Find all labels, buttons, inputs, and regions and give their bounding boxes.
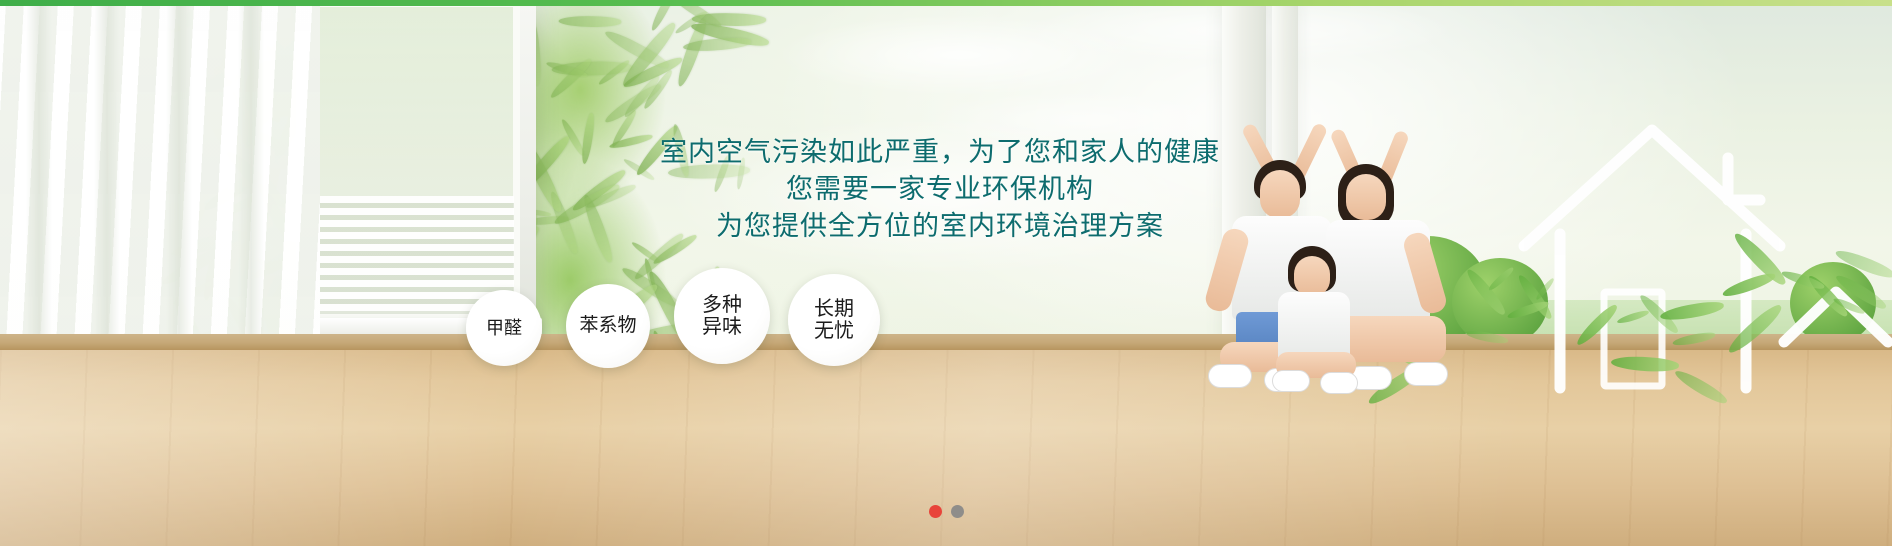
carousel-dots[interactable] bbox=[0, 504, 1892, 518]
badge-multiple-odors[interactable]: 多种 异味 bbox=[674, 268, 770, 364]
badge-long-term-worry-free-line-2: 无忧 bbox=[814, 320, 854, 342]
feature-badge-group: 甲醛 苯系物 多种 异味 长期 无忧 bbox=[462, 268, 882, 368]
badge-benzene-series[interactable]: 苯系物 bbox=[566, 284, 650, 368]
badge-formaldehyde-line-1: 甲醛 bbox=[486, 317, 522, 339]
badge-multiple-odors-line-2: 异味 bbox=[702, 316, 742, 338]
top-accent-strip bbox=[0, 0, 1892, 6]
carousel-dot-1[interactable] bbox=[929, 505, 942, 518]
badge-formaldehyde[interactable]: 甲醛 bbox=[466, 290, 542, 366]
headline-line-1: 室内空气污染如此严重，为了您和家人的健康 bbox=[560, 134, 1320, 171]
bamboo-leaf bbox=[559, 15, 622, 28]
headline-line-3: 为您提供全方位的室内环境治理方案 bbox=[560, 208, 1320, 245]
badge-long-term-worry-free[interactable]: 长期 无忧 bbox=[788, 274, 880, 366]
hero-banner-slide[interactable]: 室内空气污染如此严重，为了您和家人的健康 您需要一家专业环保机构 为您提供全方位… bbox=[0, 0, 1892, 546]
headline-line-2: 您需要一家专业环保机构 bbox=[560, 171, 1320, 208]
carousel-dot-2[interactable] bbox=[951, 505, 964, 518]
banner-headline: 室内空气污染如此严重，为了您和家人的健康 您需要一家专业环保机构 为您提供全方位… bbox=[560, 134, 1320, 245]
badge-long-term-worry-free-line-1: 长期 bbox=[814, 298, 854, 320]
badge-multiple-odors-line-1: 多种 bbox=[702, 294, 742, 316]
badge-benzene-series-line-1: 苯系物 bbox=[579, 315, 636, 337]
